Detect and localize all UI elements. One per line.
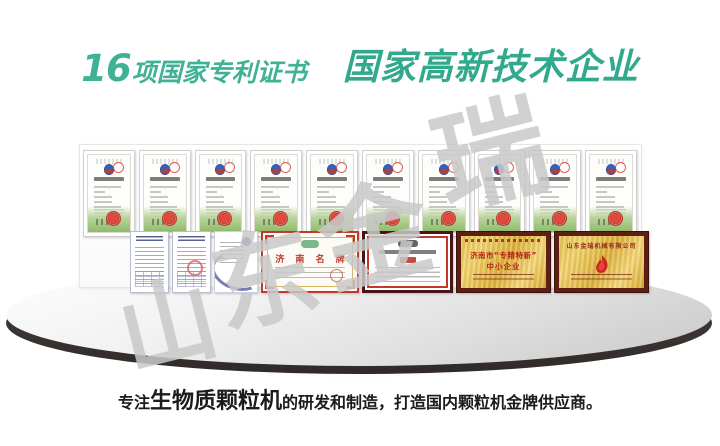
stamp-icon: [615, 162, 626, 173]
red-seal-icon: [608, 211, 623, 226]
stamp-icon: [113, 162, 124, 173]
patent-certificate[interactable]: [418, 150, 470, 237]
banner-stage: 16 项国家专利证书 国家高新技术企业: [0, 0, 720, 446]
patent-certificate[interactable]: [83, 150, 135, 237]
patent-certificate[interactable]: [474, 150, 526, 237]
patent-certificate[interactable]: [306, 150, 358, 237]
stamp-icon: [169, 162, 180, 173]
patent-certificate-row: [83, 150, 637, 235]
red-seal-icon: [329, 211, 344, 226]
patent-certificate[interactable]: [362, 150, 414, 237]
patent-certificate[interactable]: [585, 150, 637, 237]
specialized-sme-plaque[interactable]: 济南市“专精特新” 中小企业: [456, 231, 551, 293]
stamp-icon: [280, 162, 291, 173]
red-seal-icon: [385, 211, 400, 226]
company-name-plaque[interactable]: 山东金瑞机械有限公司: [554, 231, 649, 293]
red-seal-icon: [330, 269, 343, 282]
patent-certificate[interactable]: [195, 150, 247, 237]
tagline-highlight: 生物质颗粒机: [150, 389, 282, 414]
plaque-line-1: 济南市“专精特新”: [457, 250, 550, 261]
headline-patents-label: 项国家专利证书: [132, 60, 307, 85]
stamp-icon: [559, 162, 570, 173]
green-seal-icon: [301, 240, 319, 248]
patent-certificate[interactable]: [139, 150, 191, 237]
crest-icon: [398, 240, 418, 247]
tagline-lead: 专注: [118, 393, 150, 412]
honor-certificate[interactable]: [362, 231, 453, 293]
swoosh-icon: [214, 247, 258, 293]
brand-certificate-title: 济 南 名 牌: [263, 252, 357, 265]
award-row: 济 南 名 牌 济南市“专精特新” 中小企业 山东金瑞机械有限公司: [130, 231, 610, 293]
plaque-line-2: 中小企业: [457, 261, 550, 272]
tagline-tail: 的研发和制造，打造国内颗粒机金牌供应商。: [282, 393, 602, 412]
patent-certificate[interactable]: [529, 150, 581, 237]
headline-number: 16: [81, 50, 131, 87]
patent-certificate[interactable]: [250, 150, 302, 237]
tagline: 专注生物质颗粒机的研发和制造，打造国内颗粒机金牌供应商。: [0, 383, 720, 415]
stamp-icon: [392, 162, 403, 173]
stamp-icon: [448, 162, 459, 173]
quality-system-certificate[interactable]: [214, 231, 258, 293]
stamp-icon: [503, 162, 514, 173]
business-license-certificate[interactable]: [130, 231, 169, 293]
red-seal-icon: [441, 211, 456, 226]
headline-hightech-label: 国家高新技术企业: [343, 50, 639, 86]
headline-patents: 16 项国家专利证书: [81, 50, 307, 87]
stamp-icon: [336, 162, 347, 173]
jinan-famous-brand-certificate[interactable]: 济 南 名 牌: [261, 231, 359, 293]
red-seal-icon: [106, 211, 121, 226]
plaque-company-name: 山东金瑞机械有限公司: [555, 241, 648, 250]
red-seal-icon: [162, 211, 177, 226]
flame-logo-icon: [593, 254, 611, 274]
tax-registration-certificate[interactable]: [172, 231, 211, 293]
stamp-icon: [224, 162, 235, 173]
headline: 16 项国家专利证书 国家高新技术企业: [0, 42, 720, 94]
